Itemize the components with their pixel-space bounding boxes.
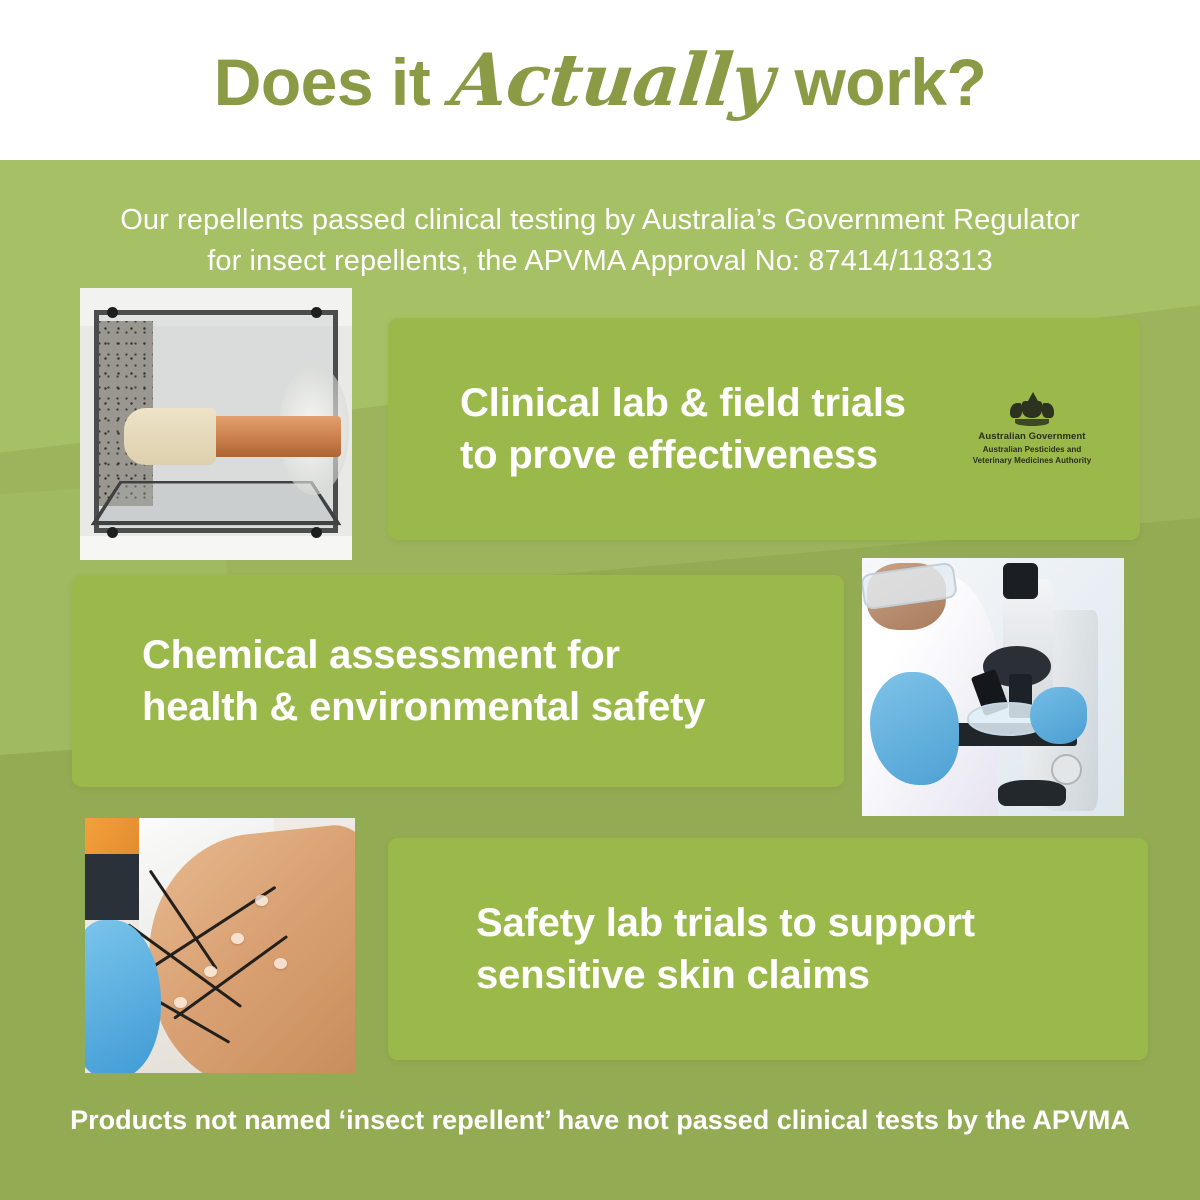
cage-floor: [80, 536, 352, 560]
card-1-line-1: Clinical lab & field trials: [460, 377, 906, 429]
title-post: work?: [794, 45, 986, 119]
skin-reaction-bump: [255, 895, 268, 906]
skin-reaction-bump: [174, 997, 187, 1008]
australian-coat-of-arms-icon: [1009, 392, 1055, 426]
crest-wreath: [1015, 419, 1049, 426]
card-2-line-1: Chemical assessment for: [142, 629, 705, 681]
mosquito-cage-photo-inner: [80, 288, 352, 560]
card-clinical-trials-text: Clinical lab & field trials to prove eff…: [460, 377, 906, 481]
crest-shield: [1022, 401, 1042, 418]
apvma-government-line: Australian Government: [972, 431, 1092, 442]
apvma-logo: Australian Government Australian Pestici…: [972, 392, 1092, 466]
poster-root: Does it Actually work? Our repellents pa…: [0, 0, 1200, 1200]
card-safety-trials-text: Safety lab trials to support sensitive s…: [476, 897, 975, 1001]
focus-knob: [1051, 754, 1082, 785]
card-chemical-assessment[interactable]: Chemical assessment for health & environ…: [72, 575, 844, 787]
crest-kangaroo: [1010, 403, 1022, 418]
card-2-line-2: health & environmental safety: [142, 681, 705, 733]
footer-disclaimer: Products not named ‘insect repellent’ ha…: [0, 1105, 1200, 1136]
apvma-authority-line-1: Australian Pesticides and: [972, 445, 1092, 455]
skin-patch-test-photo: [85, 818, 355, 1073]
crest-emu: [1042, 403, 1054, 418]
microscope-base-foot: [998, 780, 1066, 806]
crest-star: [1028, 392, 1038, 401]
card-clinical-trials[interactable]: Clinical lab & field trials to prove eff…: [388, 318, 1140, 540]
skin-reaction-bump: [204, 966, 217, 977]
title-pre: Does it: [214, 45, 431, 119]
gloved-hand-right: [1030, 687, 1088, 744]
apvma-authority-line-2: Veterinary Medicines Authority: [972, 456, 1092, 466]
microscope-photo: [862, 558, 1124, 816]
cage-glove: [124, 408, 216, 465]
subtitle-line-1: Our repellents passed clinical testing b…: [0, 200, 1200, 241]
skin-reaction-bump: [231, 933, 244, 944]
card-3-line-1: Safety lab trials to support: [476, 897, 975, 949]
microscope-photo-inner: [862, 558, 1124, 816]
subtitle: Our repellents passed clinical testing b…: [0, 200, 1200, 282]
page-title: Does it Actually work?: [214, 44, 987, 116]
card-1-line-2: to prove effectiveness: [460, 429, 906, 481]
card-chemical-assessment-text: Chemical assessment for health & environ…: [142, 629, 705, 733]
skin-patch-test-photo-inner: [85, 818, 355, 1073]
microscope-eyepiece: [1003, 563, 1037, 599]
card-3-line-2: sensitive skin claims: [476, 949, 975, 1001]
header-band: Does it Actually work?: [0, 0, 1200, 160]
card-safety-trials[interactable]: Safety lab trials to support sensitive s…: [388, 838, 1148, 1060]
mosquito-cage-photo: [80, 288, 352, 560]
title-script-word: Actually: [444, 44, 780, 116]
subtitle-line-2: for insect repellents, the APVMA Approva…: [0, 241, 1200, 282]
